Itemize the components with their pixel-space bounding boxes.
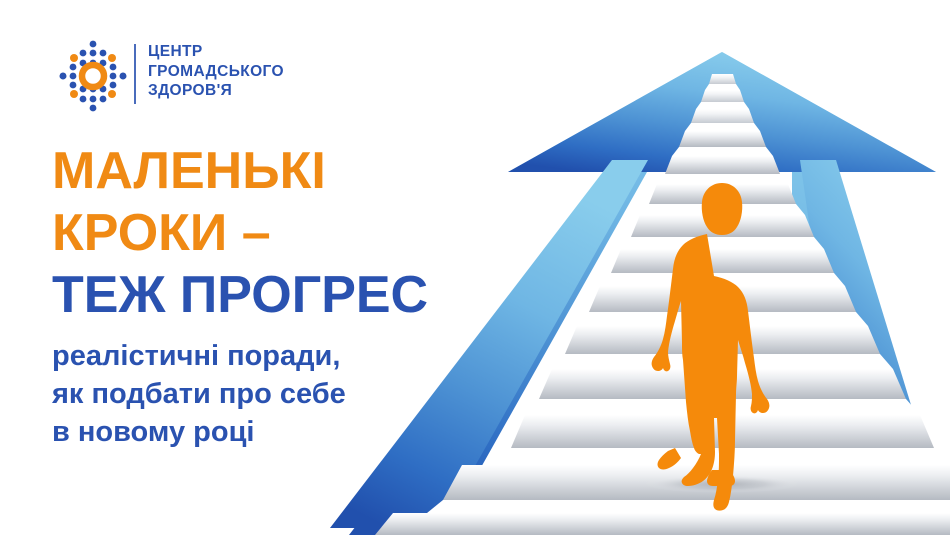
subtitle-line-2: як подбати про себе xyxy=(52,375,452,413)
brand-logo[interactable]: ЦЕНТР ГРОМАДСЬКОГО ЗДОРОВ'Я xyxy=(52,38,352,114)
walking-person-silhouette xyxy=(652,183,770,511)
headline-line-2: КРОКИ – xyxy=(52,202,472,264)
headline-line-1: МАЛЕНЬКІ xyxy=(52,140,472,202)
page-subtitle: реалістичні поради, як подбати про себе … xyxy=(52,337,452,451)
page-title: МАЛЕНЬКІ КРОКИ – ТЕЖ ПРОГРЕС xyxy=(52,140,472,326)
logo-divider xyxy=(134,44,136,104)
poster-canvas: ЦЕНТР ГРОМАДСЬКОГО ЗДОРОВ'Я МАЛЕНЬКІ КРО… xyxy=(0,0,950,535)
headline-line-3: ТЕЖ ПРОГРЕС xyxy=(52,264,472,326)
arrow-right-shaft xyxy=(800,160,934,480)
figure-shadow xyxy=(644,475,800,493)
arrow-head xyxy=(508,52,936,172)
brand-name-line-3: ЗДОРОВ'Я xyxy=(148,81,284,101)
subtitle-line-1: реалістичні поради, xyxy=(52,337,452,375)
subtitle-line-3: в новому році xyxy=(52,413,452,451)
brand-name: ЦЕНТР ГРОМАДСЬКОГО ЗДОРОВ'Я xyxy=(148,42,284,101)
brand-name-line-1: ЦЕНТР xyxy=(148,42,284,62)
cph-dots-logo-icon xyxy=(52,38,134,114)
brand-name-line-2: ГРОМАДСЬКОГО xyxy=(148,62,284,82)
